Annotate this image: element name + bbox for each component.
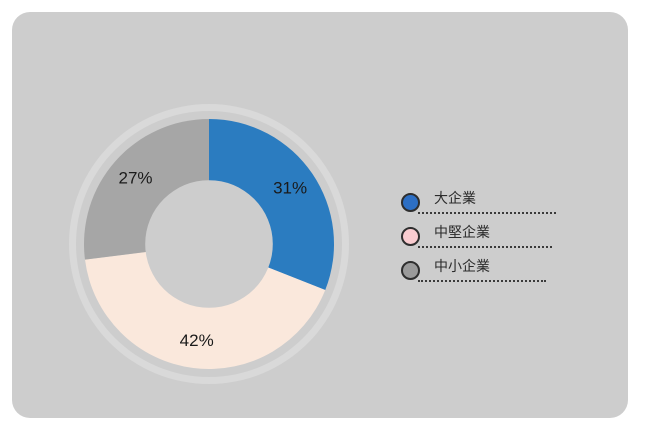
legend-marker-icon [401,261,420,280]
data-label-small-enterprise: 27% [118,169,152,188]
chart-legend: 大企業 中堅企業 中小企業 [401,190,571,292]
legend-item-large-enterprise[interactable]: 大企業 [401,190,571,224]
data-label-mid-enterprise: 42% [180,331,214,350]
legend-item-small-enterprise[interactable]: 中小企業 [401,258,571,292]
legend-leader-line [418,280,546,282]
chart-card: 31% 42% 27% 大企業 中堅企業 中小企業 [12,12,628,418]
legend-leader-line [418,246,552,248]
legend-item-label: 大企業 [434,190,476,209]
data-label-large-enterprise: 31% [273,178,307,197]
donut-svg: 31% 42% 27% [84,119,334,369]
legend-leader-line [418,212,556,214]
legend-marker-icon [401,193,420,212]
donut-center-hole [145,180,273,308]
page-root: 31% 42% 27% 大企業 中堅企業 中小企業 [0,0,650,434]
legend-item-label: 中堅企業 [434,224,490,243]
donut-chart: 31% 42% 27% [84,119,334,369]
legend-item-label: 中小企業 [434,258,490,277]
legend-marker-icon [401,227,420,246]
legend-item-mid-enterprise[interactable]: 中堅企業 [401,224,571,258]
